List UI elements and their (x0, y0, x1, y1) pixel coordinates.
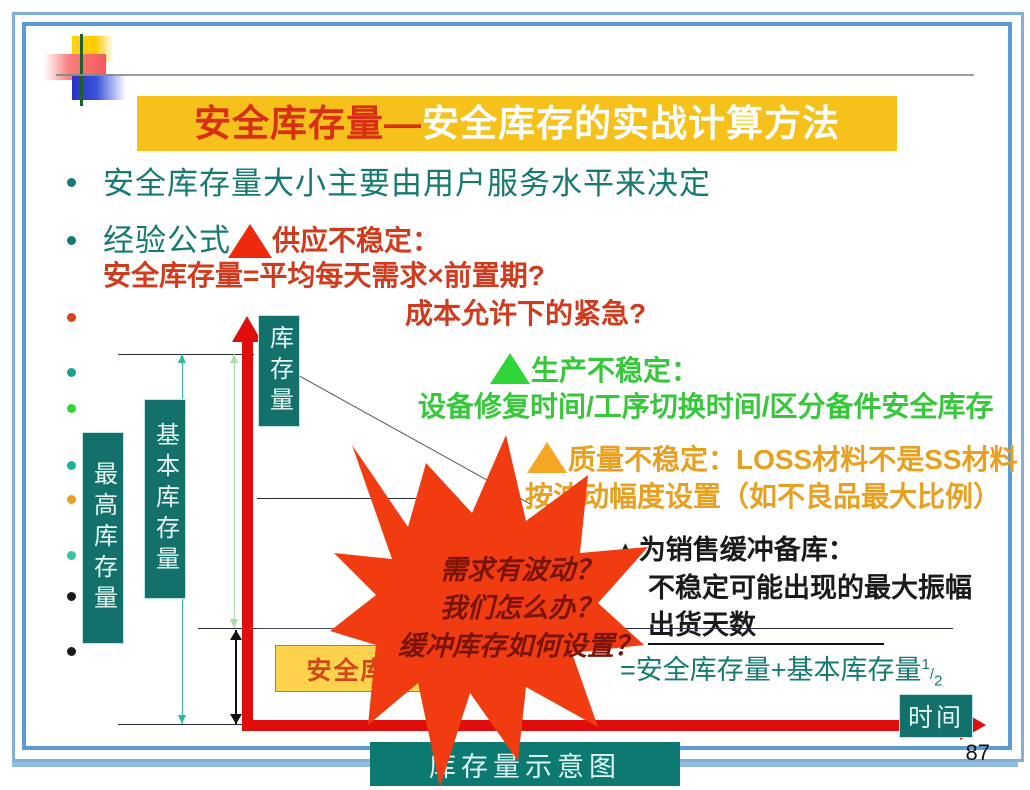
title-white-part: 安全库存的实战计算方法 (422, 105, 840, 142)
title-red-part: 安全库存量— (194, 105, 422, 142)
bullet-1 (67, 178, 76, 187)
x-axis-label-box: 时间 (900, 695, 972, 737)
logo-vertical-line (80, 34, 83, 106)
slide-title-band: 安全库存量—安全库存的实战计算方法 (137, 96, 897, 151)
starburst-line-1: 需求有波动？ (440, 557, 602, 584)
starburst-line-2: 我们怎么办？ (440, 595, 602, 622)
y-axis-label-box: 库存量 (259, 316, 299, 426)
body-line-4: 成本允许下的紧急? (405, 300, 646, 328)
basic-stock-arrow (234, 354, 235, 628)
starburst-line-3: 缓冲库存如何设置？ (398, 633, 641, 660)
red-triangle-icon (228, 224, 272, 258)
y-axis-arrowhead (232, 316, 262, 342)
body-line-1: 安全库存量大小主要由用户服务水平来决定 (103, 168, 711, 199)
starburst-callout: 需求有波动？ 我们怎么办？ 缓冲库存如何设置？ (330, 435, 650, 790)
header-rule (114, 74, 974, 76)
body-line-2-red: 供应不稳定： (272, 227, 440, 255)
page-number: 87 (966, 740, 990, 766)
company-logo (40, 34, 130, 106)
bullet-2 (67, 236, 76, 245)
body-line-2-prefix: 经验公式 (103, 225, 231, 256)
safety-stock-arrow (235, 630, 237, 724)
basic-stock-label-box: 基本库存量 (145, 400, 185, 598)
max-stock-label-box: 最高库存量 (83, 433, 123, 643)
body-line-3: 安全库存量=平均每天需求×前置期? (103, 262, 545, 290)
zero-level-line (118, 724, 254, 725)
slide-canvas: 安全库存量—安全库存的实战计算方法 安全库存量大小主要由用户服务水平来决定 经验… (0, 0, 1030, 790)
y-axis (242, 336, 253, 731)
bullet-3 (67, 313, 76, 322)
